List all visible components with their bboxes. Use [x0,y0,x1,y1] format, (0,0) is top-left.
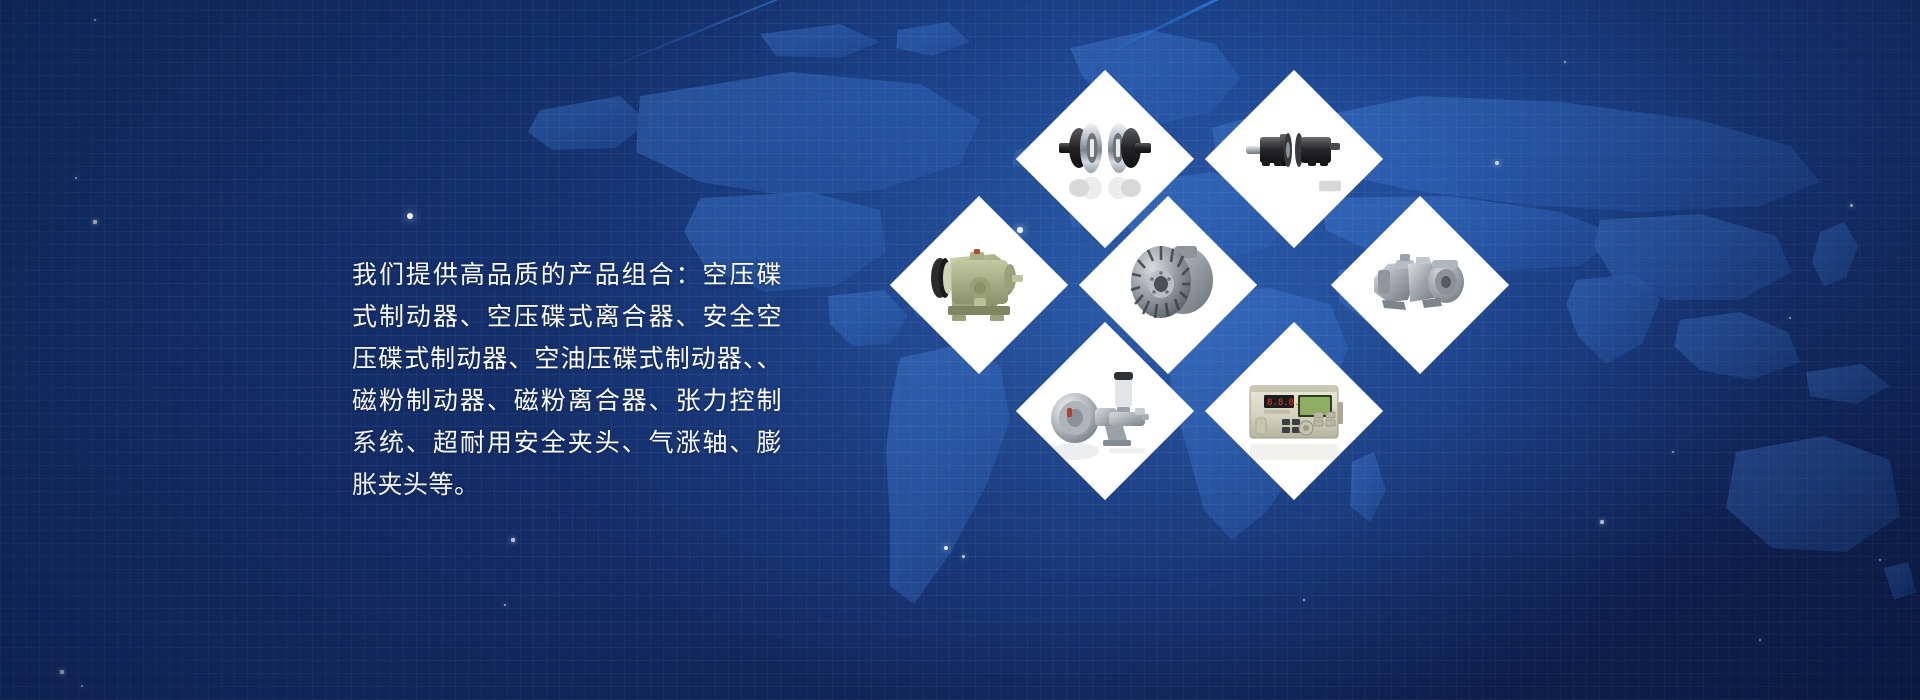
star-dot [1564,61,1567,64]
star-dot [60,670,63,673]
star-dot [504,604,506,606]
diamond-tile-hydraulic-caliper-unit[interactable] [1331,196,1509,374]
star-dot [962,555,965,558]
light-streak-1 [600,0,999,72]
star-dot [407,213,413,219]
hero-banner: 我们提供高品质的产品组合：空压碟式制动器、空压碟式离合器、安全空压碟式制动器、空… [0,0,1920,700]
star-dot [1672,451,1675,454]
star-dot [1495,161,1499,165]
diamond-tile-shaft-brake-unit[interactable] [1205,70,1383,248]
star-dot [1850,204,1853,207]
star-dot [81,685,84,688]
diamond-tile-worm-gear-reducer[interactable] [890,196,1068,374]
diamond-tile-tension-controller[interactable]: 8.8.8.8 [1205,322,1383,500]
banner-headline: 我们提供高品质的产品组合：空压碟式制动器、空压碟式离合器、安全空压碟式制动器、空… [352,254,782,506]
star-dot [511,538,514,541]
star-dot [1879,559,1882,562]
star-dot [1759,639,1761,641]
star-dot [93,220,96,223]
star-dot [1017,227,1022,232]
star-dot [1600,520,1604,524]
light-streak-2 [1105,0,1376,54]
star-dot [94,19,96,21]
star-dot [944,546,949,551]
star-dot [1789,317,1792,320]
star-dot [75,177,78,180]
star-dot [1303,599,1306,602]
